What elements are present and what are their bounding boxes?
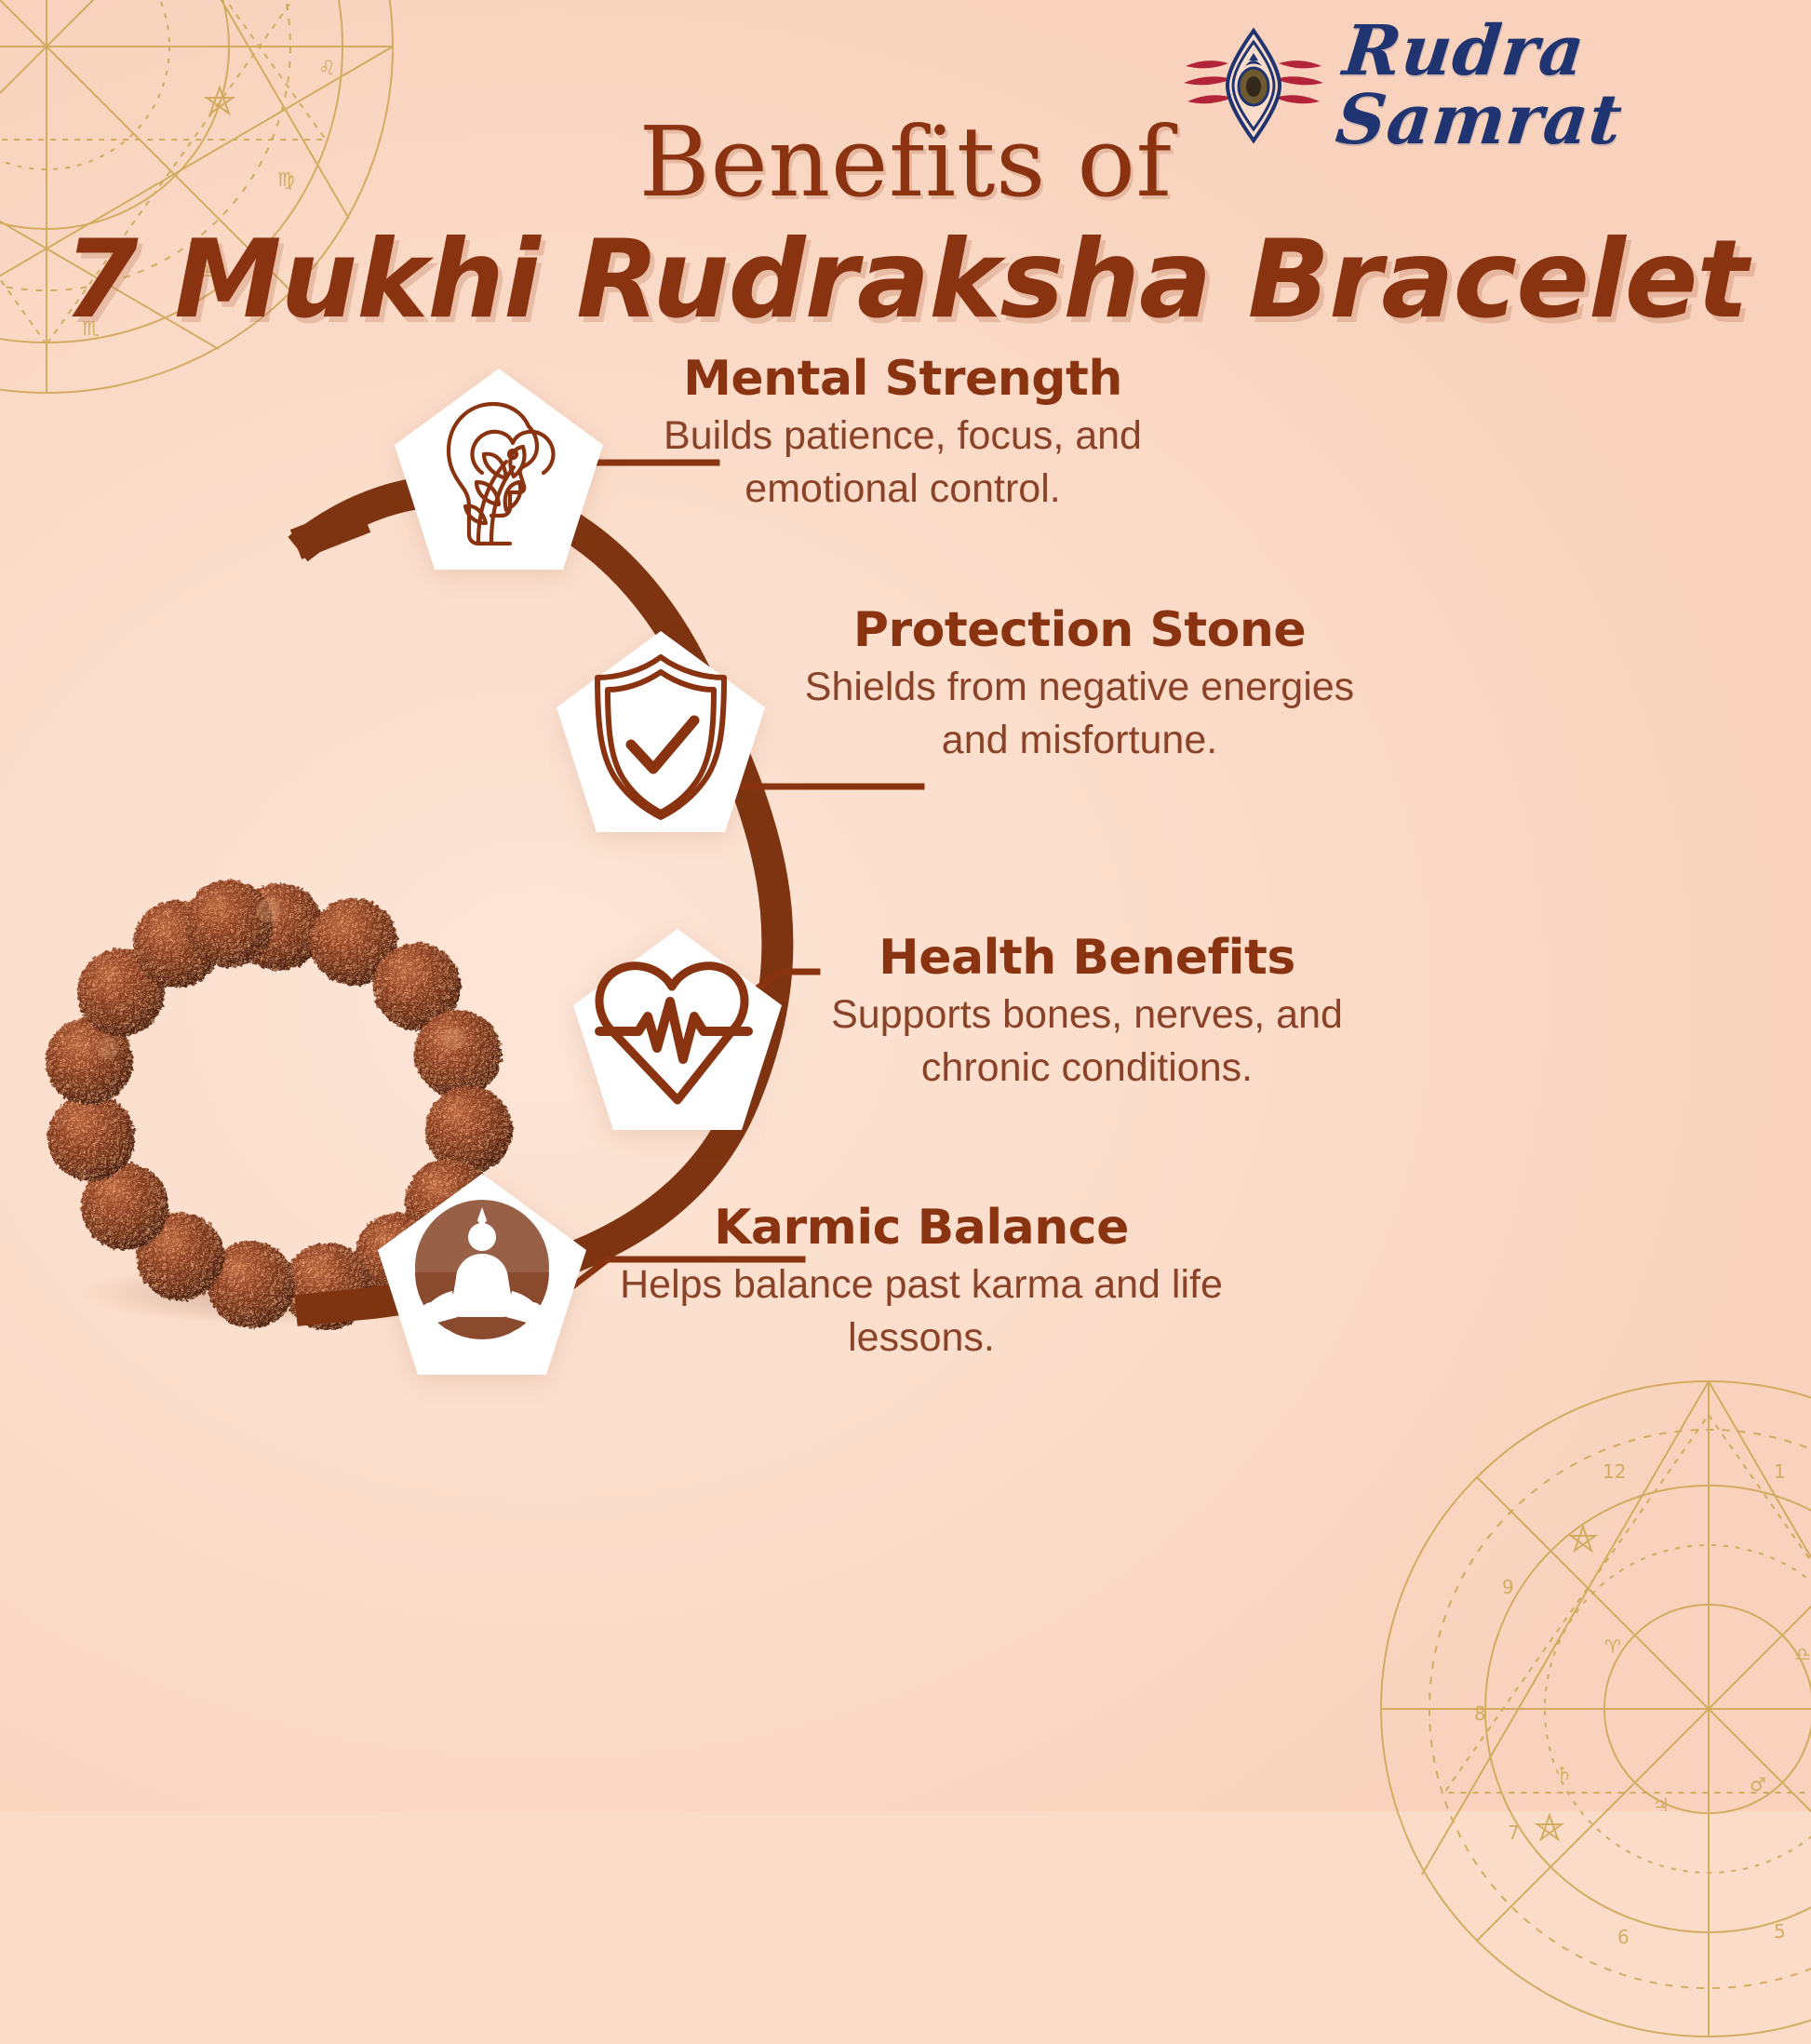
- benefit-title-1: Mental Strength: [596, 352, 1210, 406]
- svg-text:12: 12: [1603, 1460, 1626, 1483]
- benefit-description-1: Builds patience, focus, and emotional co…: [596, 410, 1210, 516]
- benefit-title-2: Protection Stone: [772, 603, 1387, 657]
- benefit-description-3: Supports bones, nerves, and chronic cond…: [780, 988, 1394, 1095]
- mind-tree-head-icon: [389, 363, 609, 583]
- svg-text:♎: ♎: [1794, 1643, 1811, 1665]
- svg-text:5: 5: [1774, 1920, 1786, 1943]
- svg-text:♌: ♌: [318, 57, 336, 79]
- svg-text:1: 1: [1774, 1460, 1786, 1483]
- benefit-text-protection-stone: Protection Stone Shields from negative e…: [772, 603, 1387, 767]
- benefit-badge-health-benefits[interactable]: [568, 923, 787, 1143]
- page-title-block: Benefits of 7 Mukhi Rudraksha Bracelet: [0, 110, 1811, 341]
- benefit-description-2: Shields from negative energies and misfo…: [772, 661, 1387, 767]
- benefit-text-health-benefits: Health Benefits Supports bones, nerves, …: [780, 931, 1394, 1095]
- svg-text:♈: ♈: [1604, 1635, 1621, 1658]
- svg-text:♄: ♄: [1556, 1762, 1573, 1784]
- infographic-canvas: ♈♉ ♊♋ ♌♍ ♎♏ ♐♑ ♒♓ ☉☽ ☿: [0, 0, 1811, 1811]
- benefit-text-mental-strength: Mental Strength Builds patience, focus, …: [596, 352, 1210, 516]
- heart-heartbeat-icon: [568, 923, 787, 1143]
- page-title-line2: 7 Mukhi Rudraksha Bracelet: [0, 220, 1811, 341]
- benefit-badge-mental-strength[interactable]: [389, 363, 609, 583]
- meditation-figure-icon: [372, 1168, 592, 1388]
- benefit-text-karmic-balance: Karmic Balance Helps balance past karma …: [614, 1201, 1228, 1365]
- benefit-badge-karmic-balance[interactable]: [372, 1168, 592, 1388]
- svg-text:♂: ♂: [1750, 1773, 1766, 1795]
- svg-text:♃: ♃: [1653, 1794, 1670, 1816]
- benefit-title-3: Health Benefits: [780, 931, 1394, 985]
- benefit-badge-protection-stone[interactable]: [551, 625, 771, 845]
- shield-check-icon: [551, 625, 771, 845]
- svg-text:6: 6: [1617, 1926, 1630, 1948]
- svg-text:9: 9: [1502, 1576, 1514, 1598]
- zodiac-wheel-bottom-right-decoration: 121 23 45 67 89 ♄♃ ♂♈ ♎: [1374, 1374, 1811, 2044]
- benefit-title-4: Karmic Balance: [614, 1201, 1228, 1255]
- svg-text:7: 7: [1508, 1822, 1520, 1844]
- svg-text:8: 8: [1474, 1702, 1486, 1725]
- page-title-line1: Benefits of: [0, 110, 1811, 214]
- benefit-description-4: Helps balance past karma and life lesson…: [614, 1258, 1228, 1365]
